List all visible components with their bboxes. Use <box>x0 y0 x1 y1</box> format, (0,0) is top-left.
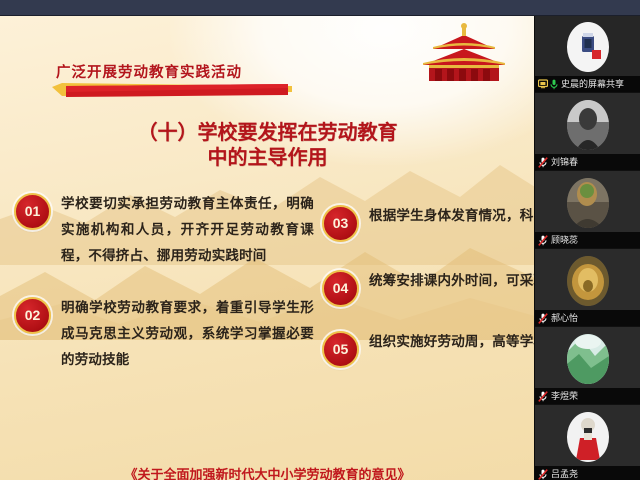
video-tile-participant-2[interactable]: 顾晓蕊 <box>535 171 640 249</box>
ribbon-decoration-icon <box>52 83 292 99</box>
mic-off-icon <box>538 469 548 480</box>
bullet-number-badge: 02 <box>14 297 51 334</box>
bullet-number-badge: 01 <box>14 193 51 230</box>
avatar <box>567 22 609 72</box>
participant-name: 刘锦春 <box>551 154 578 170</box>
video-tile-participant-4[interactable]: 李煜荣 <box>535 327 640 405</box>
slide-main-title: （十）学校要发挥在劳动教育 中的主导作用 <box>0 121 535 171</box>
bullet-text: 明确学校劳动教育要求，着重引导学生形成马克思主义劳动观，系统学习掌握必要的劳动技… <box>61 295 314 373</box>
video-tile-participant-5[interactable]: 吕孟尧 <box>535 405 640 480</box>
participant-name: 郝心怡 <box>551 310 578 326</box>
avatar <box>567 178 609 228</box>
bullet-number-badge: 04 <box>322 270 359 307</box>
mic-off-icon <box>538 157 548 168</box>
avatar <box>567 100 609 150</box>
video-tile-participant-0[interactable]: 史晨的屏幕共享 <box>535 15 640 93</box>
participant-name: 李煜荣 <box>551 388 578 404</box>
participant-name-bar: 吕孟尧 <box>535 466 640 480</box>
app-root: 广泛开展劳动教育实践活动 （十）学校要发挥在劳动教育 中的主导作用 01 学校要… <box>0 0 640 480</box>
slide-footer-source: 《关于全面加强新时代大中小学劳动教育的意见》 <box>0 467 535 480</box>
participant-name: 吕孟尧 <box>551 466 578 480</box>
bullet-number-badge: 03 <box>322 205 359 242</box>
bullet-item-02: 02 明确学校劳动教育要求，着重引导学生形成马克思主义劳动观，系统学习掌握必要的… <box>14 295 314 373</box>
video-tile-participant-3[interactable]: 郝心怡 <box>535 249 640 327</box>
bullet-item-04: 04 统筹安排课内外时间，可采取分散与集中相结合的方式 <box>322 268 535 307</box>
avatar <box>567 412 609 462</box>
bullet-column-left: 01 学校要切实承担劳动教育主体责任，明确实施机构和人员，开齐开足劳动教育课程，… <box>14 191 314 385</box>
avatar <box>567 334 609 384</box>
participant-name-bar: 史晨的屏幕共享 <box>535 76 640 92</box>
participant-name-bar: 郝心怡 <box>535 310 640 326</box>
slide-bullet-columns: 01 学校要切实承担劳动教育主体责任，明确实施机构和人员，开齐开足劳动教育课程，… <box>0 191 535 471</box>
video-participant-rail[interactable]: 史晨的屏幕共享 <box>534 15 640 480</box>
bullet-text: 组织实施好劳动周，高等学校要组织学生走向社会、以校外劳动锻炼为主 <box>369 329 535 355</box>
pavilion-icon <box>421 23 507 83</box>
avatar <box>567 256 609 306</box>
slide-banner-title: 广泛开展劳动教育实践活动 <box>56 61 242 82</box>
mic-off-icon <box>538 235 548 246</box>
participant-name: 史晨的屏幕共享 <box>561 76 624 92</box>
slide-title-line-1: （十）学校要发挥在劳动教育 <box>138 122 398 144</box>
screen-share-icon <box>538 79 548 89</box>
mic-off-icon <box>538 313 548 324</box>
mic-on-icon <box>550 79 558 90</box>
bullet-text: 统筹安排课内外时间，可采取分散与集中相结合的方式 <box>369 268 535 294</box>
slide-title-line-2: 中的主导作用 <box>0 146 535 171</box>
bullet-item-01: 01 学校要切实承担劳动教育主体责任，明确实施机构和人员，开齐开足劳动教育课程，… <box>14 191 314 269</box>
bullet-column-right: 03 根据学生身体发育情况，科学设计课内外劳动项目，采取灵活多样形式，激发学生劳… <box>322 191 535 380</box>
window-title-bar <box>0 0 640 16</box>
participant-name-bar: 李煜荣 <box>535 388 640 404</box>
bullet-text: 根据学生身体发育情况，科学设计课内外劳动项目，采取灵活多样形式，激发学生劳动的内… <box>369 203 535 229</box>
bullet-item-05: 05 组织实施好劳动周，高等学校要组织学生走向社会、以校外劳动锻炼为主 <box>322 329 535 368</box>
participant-name: 顾晓蕊 <box>551 232 578 248</box>
bullet-number-badge: 05 <box>322 331 359 368</box>
participant-name-bar: 刘锦春 <box>535 154 640 170</box>
presentation-slide: 广泛开展劳动教育实践活动 （十）学校要发挥在劳动教育 中的主导作用 01 学校要… <box>0 15 535 480</box>
mic-off-icon <box>538 391 548 402</box>
bullet-item-03: 03 根据学生身体发育情况，科学设计课内外劳动项目，采取灵活多样形式，激发学生劳… <box>322 203 535 242</box>
video-tile-participant-1[interactable]: 刘锦春 <box>535 93 640 171</box>
bullet-text: 学校要切实承担劳动教育主体责任，明确实施机构和人员，开齐开足劳动教育课程，不得挤… <box>61 191 314 269</box>
participant-name-bar: 顾晓蕊 <box>535 232 640 248</box>
